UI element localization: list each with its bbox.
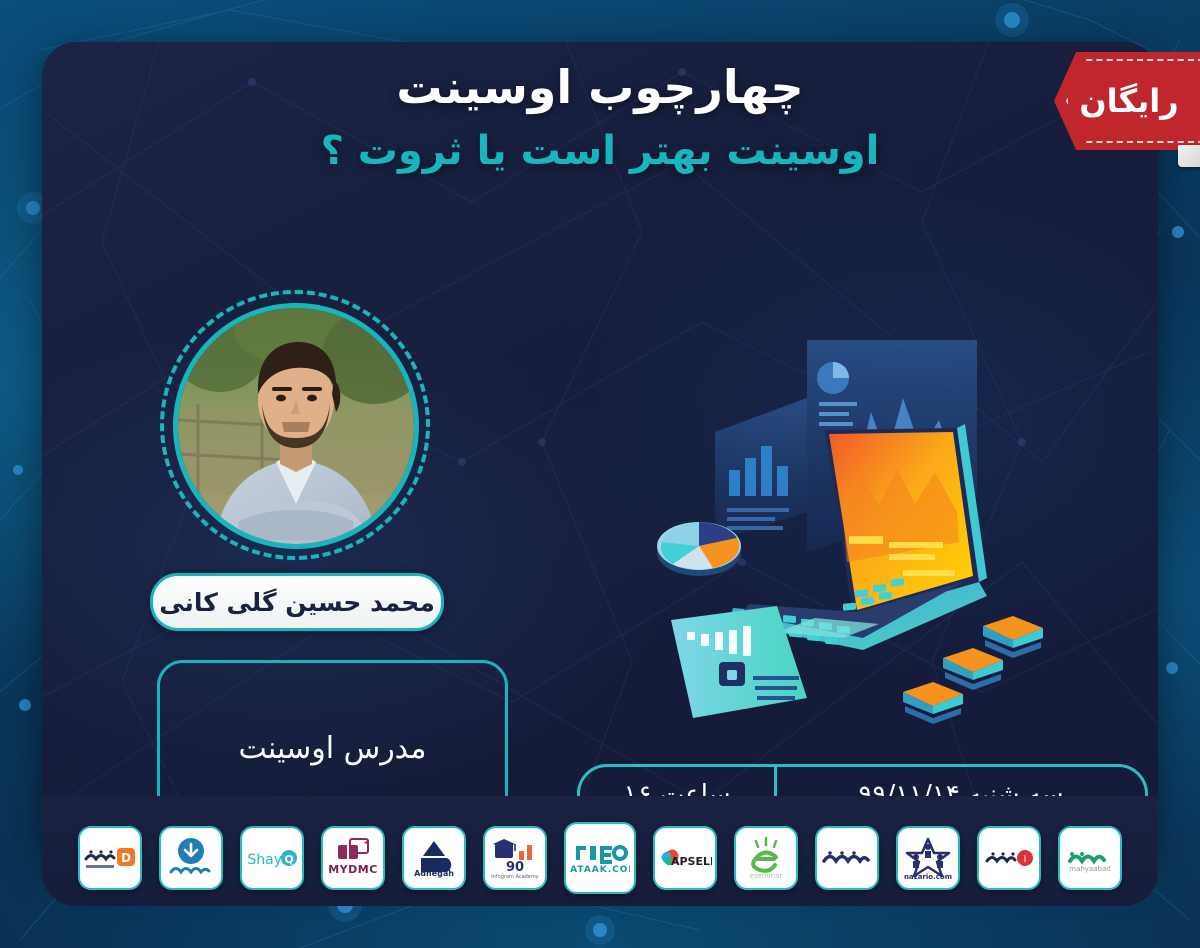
speaker-role: مدرس اوسینت [239,731,427,766]
sponsor-logo-iranserver[interactable] [815,826,879,890]
isometric-laptop-illustration [657,320,1057,730]
svg-text:APSELL: APSELL [671,855,712,868]
svg-text:MYDMC: MYDMC [328,863,378,876]
sponsor-logo-nazario[interactable]: nazario.com [896,826,960,890]
free-badge: رایگان [1054,52,1200,150]
poster-titles: چهارچوب اوسینت اوسینت بهتر است یا ثروت ؟ [42,56,1158,178]
free-badge-ribbon: رایگان [1054,52,1200,150]
sponsor-logo-mahyaabad[interactable]: mahyaabad [1058,826,1122,890]
avatar [173,303,419,549]
sponsor-logo-shayeq[interactable]: Shaye Q [240,826,304,890]
sponsor-logo-akhbar-rasmi[interactable]: ا [977,826,1041,890]
sponsor-logo-dataak[interactable]: DATAAK.COM [564,822,636,894]
speaker-name: محمد حسین گلی کانی [159,588,435,617]
svg-text:nazario.com: nazario.com [904,873,952,881]
sponsor-logo-tapsell[interactable]: APSELL [653,826,717,890]
svg-text:Infogram Academy: Infogram Academy [491,874,538,879]
sponsor-logo-adnegah[interactable]: Adnegah [402,826,466,890]
svg-text:DATAAK.COM: DATAAK.COM [570,865,630,875]
svg-text:D: D [121,851,131,865]
sponsor-logo-infogram-academy[interactable]: 90 Infogram Academy [483,826,547,890]
svg-text:90: 90 [506,860,524,875]
poster-root: چهارچوب اوسینت اوسینت بهتر است یا ثروت ؟ [0,0,1200,948]
sponsor-logo-agahi-academy[interactable] [159,826,223,890]
speaker-name-pill: محمد حسین گلی کانی [150,573,444,631]
svg-text:Adnegah: Adnegah [414,869,454,878]
svg-text:eseminar: eseminar [750,872,783,880]
sponsor-logo-eseminar[interactable]: eseminar [734,826,798,890]
free-badge-label: رایگان [1079,82,1186,120]
sponsor-logo-mydmc[interactable]: MYDMC [321,826,385,890]
title-line-1: چهارچوب اوسینت [42,56,1158,118]
sponsor-logo-monazam[interactable]: D [78,826,142,890]
avatar-dashed-ring [160,290,430,560]
speaker-photo [178,308,414,544]
sponsor-logo-bar: mahyaabad ا nazario.com [42,796,1158,906]
title-line-2: اوسینت بهتر است یا ثروت ؟ [42,124,1158,178]
svg-text:Q: Q [284,853,293,866]
svg-text:ا: ا [1024,855,1027,865]
free-badge-fold-corner [1178,145,1200,167]
speaker-avatar-block [150,290,440,560]
svg-text:mahyaabad: mahyaabad [1069,865,1110,873]
